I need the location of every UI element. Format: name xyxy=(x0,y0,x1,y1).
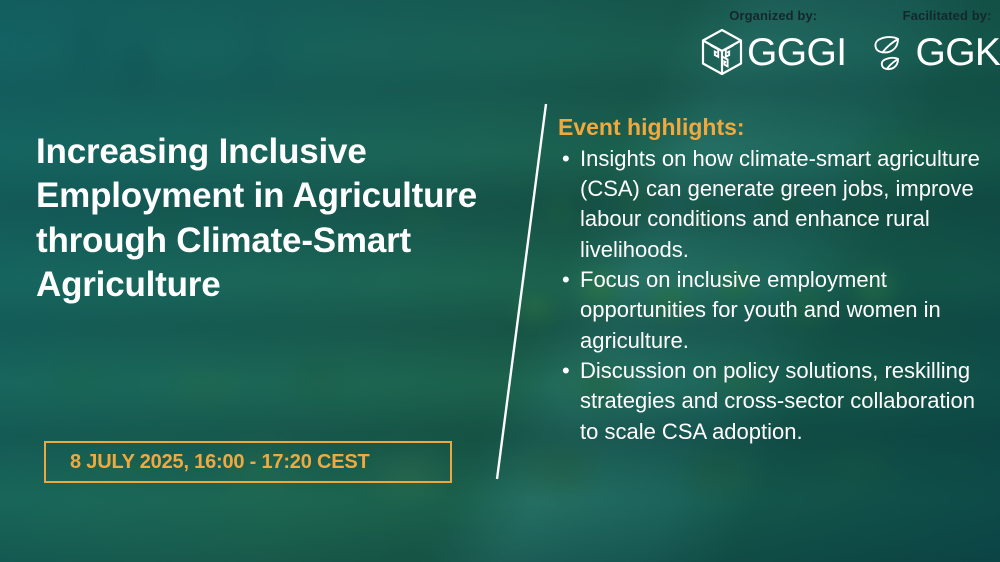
organized-by-label: Organized by: xyxy=(729,8,817,23)
ggkp-wordmark: GGKP xyxy=(915,33,1000,72)
event-highlights-panel: Event highlights: • Insights on how clim… xyxy=(558,114,982,447)
event-promo-slide: Organized by: GGGI Fa xyxy=(0,0,1000,562)
partner-facilitated-by: Facilitated by: GGKP xyxy=(868,8,1000,76)
list-item-text: Insights on how climate-smart agricultur… xyxy=(580,146,980,262)
ggkp-leaf-logo-icon xyxy=(868,28,912,76)
partner-organized-by: Organized by: GGGI xyxy=(700,8,846,76)
event-highlights-heading: Event highlights: xyxy=(558,114,982,142)
event-highlights-list: • Insights on how climate-smart agricult… xyxy=(558,144,982,448)
list-item-text: Focus on inclusive employment opportunit… xyxy=(580,267,941,353)
partner-logos: Organized by: GGGI Fa xyxy=(700,8,990,76)
bullet-icon: • xyxy=(562,356,570,386)
event-date-badge: 8 JULY 2025, 16:00 - 17:20 CEST xyxy=(44,441,452,483)
list-item-text: Discussion on policy solutions, reskilli… xyxy=(580,358,975,444)
bullet-icon: • xyxy=(562,144,570,174)
bullet-icon: • xyxy=(562,265,570,295)
list-item: • Discussion on policy solutions, reskil… xyxy=(558,356,982,447)
slide-title: Increasing Inclusive Employment in Agric… xyxy=(36,130,541,308)
list-item: • Insights on how climate-smart agricult… xyxy=(558,144,982,265)
gggi-logo-lockup[interactable]: GGGI xyxy=(700,28,846,76)
ggkp-logo-lockup[interactable]: GGKP xyxy=(868,28,1000,76)
facilitated-by-label: Facilitated by: xyxy=(903,8,992,23)
gggi-wordmark: GGGI xyxy=(747,33,846,72)
event-date-text: 8 JULY 2025, 16:00 - 17:20 CEST xyxy=(70,451,370,474)
list-item: • Focus on inclusive employment opportun… xyxy=(558,265,982,356)
gggi-cube-logo-icon xyxy=(700,28,744,76)
